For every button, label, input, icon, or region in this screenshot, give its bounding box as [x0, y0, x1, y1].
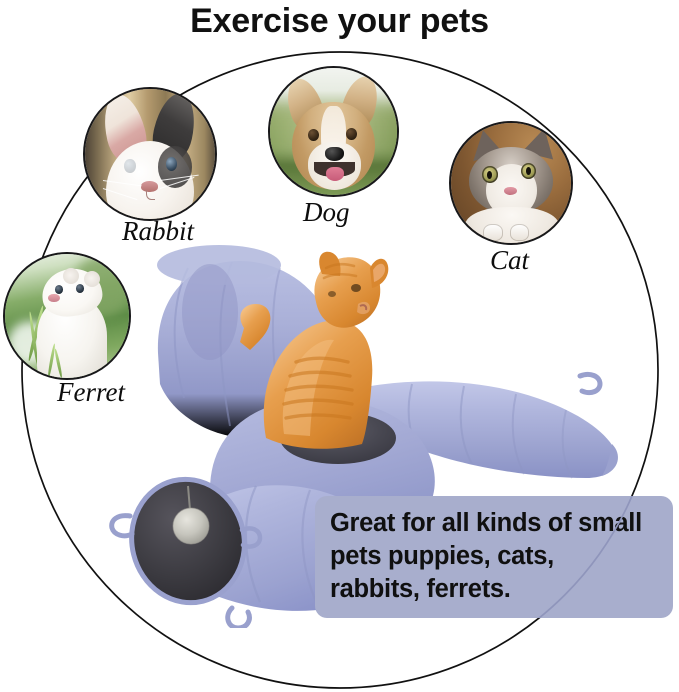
cat-nose-shape [504, 187, 517, 195]
dog-photo [270, 68, 397, 195]
cat-pupil-shape [487, 171, 492, 179]
cat-eye-left-shape [482, 166, 498, 183]
feature-callout-box: Great for all kinds of small pets puppie… [315, 496, 673, 618]
dog-eye-left-shape [308, 129, 319, 141]
callout-line-1: Great for all kinds of small [330, 507, 659, 540]
rabbit-photo [85, 89, 215, 219]
rabbit-eye-left-shape [124, 159, 136, 173]
pet-bubble-cat [449, 121, 573, 245]
dog-eye-right-shape [346, 128, 357, 140]
page-title: Exercise your pets [0, 2, 679, 41]
callout-line-2: pets puppies, cats, [330, 540, 659, 573]
callout-line-3: rabbits, ferrets. [330, 573, 659, 606]
pet-bubble-rabbit [83, 87, 217, 221]
tunnel-loop-tab-right [580, 374, 600, 392]
rabbit-eye-right-shape [166, 157, 178, 171]
tunnel-loop-tab-bottom [228, 608, 250, 628]
tunnel-loop-tab-left [112, 516, 132, 536]
cat-pupil-shape [526, 167, 531, 175]
cat-photo [451, 123, 571, 243]
dog-nose-shape [325, 147, 344, 161]
pet-bubble-dog [268, 66, 399, 197]
pet-label-dog: Dog [303, 197, 350, 228]
dog-tongue-shape [326, 167, 344, 181]
product-infographic: Exercise your pets Rabbit [0, 0, 679, 692]
ferret-nose-shape [48, 294, 59, 302]
rabbit-mouth-shape [146, 190, 155, 200]
